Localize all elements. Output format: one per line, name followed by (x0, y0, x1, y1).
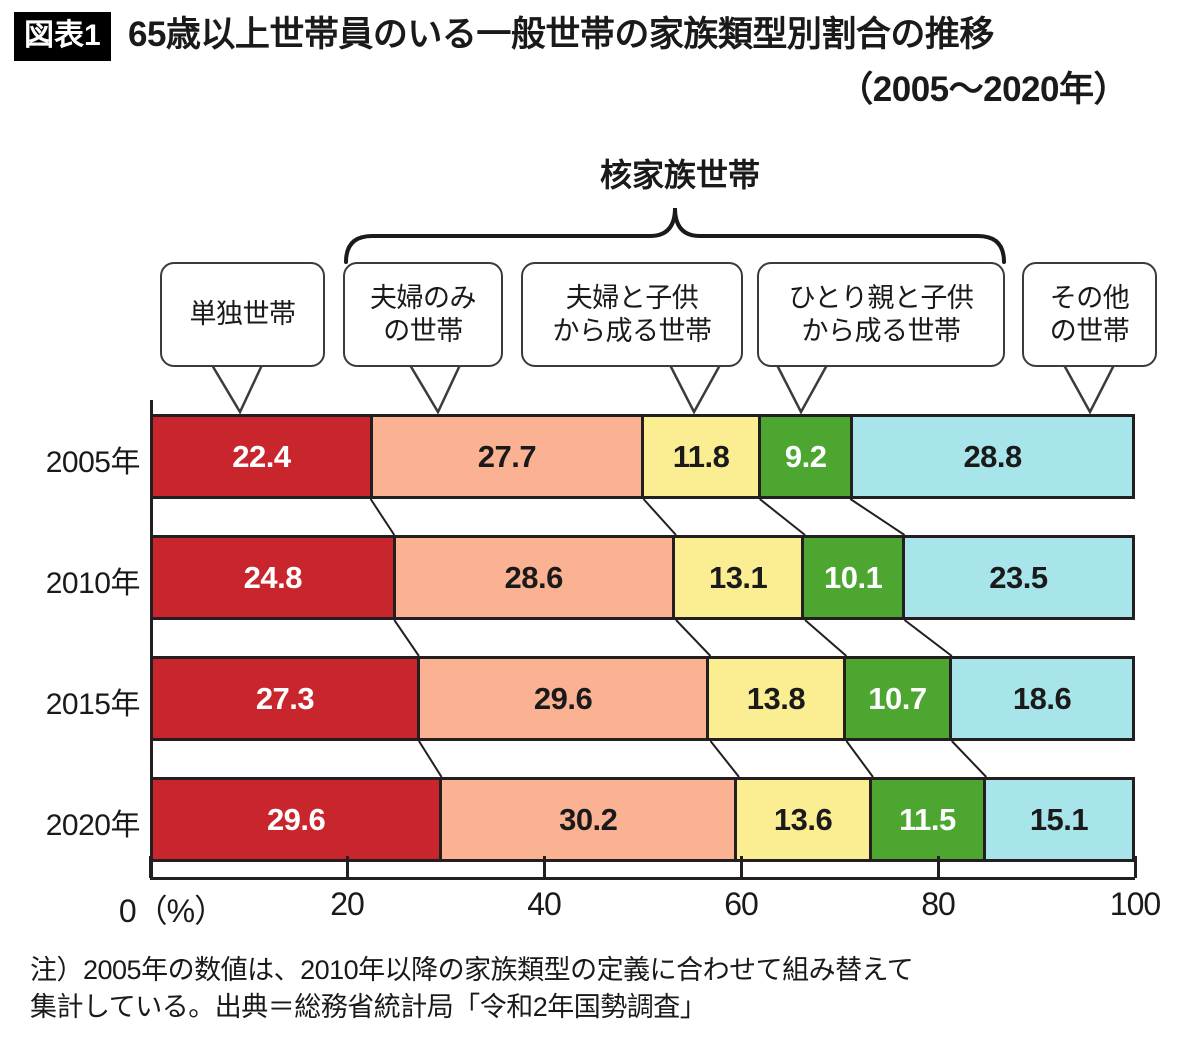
segment-connector-line (643, 499, 676, 535)
segment-connector-line (905, 620, 952, 656)
bar-segment-value: 18.6 (1013, 681, 1071, 717)
page-title: 65歳以上世帯員のいる一般世帯の家族類型別割合の推移 (128, 13, 994, 57)
bar-segment: 10.7 (843, 659, 949, 738)
bar-segment-value: 15.1 (1030, 802, 1088, 838)
callout-tail-single-parent-with-children (775, 362, 855, 414)
bar-segment: 27.7 (370, 417, 641, 496)
x-tick-label: 0（%） (119, 886, 225, 932)
segment-connector-line (952, 741, 986, 777)
bar-segment: 15.1 (983, 780, 1132, 859)
bar-segment-value: 28.8 (963, 439, 1021, 475)
page-title-period: （2005〜2020年） (0, 68, 1128, 112)
bar-segment-value: 23.5 (989, 560, 1047, 596)
bar-segment: 13.6 (734, 780, 869, 859)
callout-tail-couple-with-children (668, 362, 748, 414)
segment-connector-line (805, 620, 846, 656)
callout-tail-single-household (210, 362, 290, 414)
bar-segment: 28.8 (850, 417, 1132, 496)
footnote-line-1: 注）2005年の数値は、2010年以降の家族類型の定義に合わせて組み替えて (30, 952, 1180, 989)
bar-segment-value: 9.2 (785, 439, 827, 475)
bar-row: 22.427.711.89.228.8 (150, 414, 1135, 499)
footnote-line-2: 集計している。出典＝総務省統計局「令和2年国勢調査」 (30, 989, 1180, 1026)
callout-label: 単独世帯 (190, 298, 296, 331)
callout-tail-couple-only (408, 362, 488, 414)
x-tick-mark (543, 856, 546, 878)
bar-segment-value: 10.1 (824, 560, 882, 596)
bar-row: 29.630.213.611.515.1 (150, 777, 1135, 862)
bar-segment: 29.6 (153, 780, 439, 859)
bar-row: 24.828.613.110.123.5 (150, 535, 1135, 620)
bar-segment-value: 13.6 (774, 802, 832, 838)
title-area: 図表1 65歳以上世帯員のいる一般世帯の家族類型別割合の推移 （2005〜202… (0, 0, 1200, 122)
bar-segment-value: 24.8 (244, 560, 302, 596)
bar-segment: 28.6 (393, 538, 672, 617)
callout-box-other-household: その他 の世帯 (1022, 262, 1157, 367)
bar-segment: 22.4 (153, 417, 370, 496)
bar-segment: 11.5 (869, 780, 983, 859)
bar-segment: 13.8 (706, 659, 842, 738)
callout-box-single-household: 単独世帯 (160, 262, 325, 367)
x-tick-label: 40 (527, 886, 561, 923)
callout-label: 夫婦のみ の世帯 (370, 282, 476, 348)
bar-segment: 23.5 (902, 538, 1132, 617)
callout-box-couple-only: 夫婦のみ の世帯 (343, 262, 503, 367)
callout-box-couple-with-children: 夫婦と子供 から成る世帯 (521, 262, 743, 367)
segment-connector-line (760, 499, 805, 535)
segment-connector-line (419, 741, 442, 777)
y-axis-label-2020年: 2020年 (0, 800, 140, 844)
callout-label: 夫婦と子供 から成る世帯 (553, 282, 712, 348)
bar-segment: 11.8 (641, 417, 758, 496)
bar-segment-value: 28.6 (505, 560, 563, 596)
x-tick-mark (346, 856, 349, 878)
bar-segment-value: 27.7 (478, 439, 536, 475)
callout-tail-other-household (1062, 362, 1142, 414)
bar-row: 27.329.613.810.718.6 (150, 656, 1135, 741)
y-axis-line (150, 400, 153, 880)
x-tick-mark (149, 856, 152, 878)
bar-segment-value: 10.7 (868, 681, 926, 717)
bar-segment-value: 13.1 (709, 560, 767, 596)
callout-label: ひとり親と子供 から成る世帯 (789, 282, 974, 348)
bar-segment-value: 30.2 (559, 802, 617, 838)
bar-segment: 13.1 (672, 538, 802, 617)
x-tick-label: 60 (724, 886, 758, 923)
bar-segment-value: 29.6 (267, 802, 325, 838)
bar-segment: 29.6 (417, 659, 706, 738)
x-tick-label: 20 (330, 886, 364, 923)
x-tick-label: 80 (921, 886, 955, 923)
bar-segment-value: 27.3 (256, 681, 314, 717)
x-tick-mark (740, 856, 743, 878)
segment-connector-line (676, 620, 710, 656)
footnote: 注）2005年の数値は、2010年以降の家族類型の定義に合わせて組み替えて 集計… (30, 952, 1180, 1027)
bar-segment-value: 22.4 (232, 439, 290, 475)
segment-connector-line (850, 499, 904, 535)
bar-segment: 9.2 (758, 417, 850, 496)
bar-segment: 27.3 (153, 659, 417, 738)
bar-segment-value: 13.8 (747, 681, 805, 717)
x-tick-mark (937, 856, 940, 878)
y-axis-label-2010年: 2010年 (0, 558, 140, 602)
callout-box-single-parent-with-children: ひとり親と子供 から成る世帯 (757, 262, 1005, 367)
y-axis-label-2005年: 2005年 (0, 437, 140, 481)
segment-connector-line (846, 741, 873, 777)
y-axis-label-2015年: 2015年 (0, 679, 140, 723)
segment-connector-line (710, 741, 739, 777)
x-tick-label: 100 (1110, 886, 1160, 923)
bracket-label-nuclear-family: 核家族世帯 (560, 150, 800, 196)
bar-segment: 18.6 (949, 659, 1132, 738)
bar-segment-value: 11.5 (899, 802, 956, 838)
bar-segment: 24.8 (153, 538, 393, 617)
figure-number-badge: 図表1 (14, 12, 111, 61)
segment-connector-line (371, 499, 395, 535)
segment-connector-line (394, 620, 419, 656)
bar-segment-value: 29.6 (534, 681, 592, 717)
x-axis-line (150, 877, 1135, 880)
bar-segment: 30.2 (439, 780, 734, 859)
bar-segment-value: 11.8 (673, 439, 730, 475)
x-tick-mark (1134, 856, 1137, 878)
nuclear-family-brace-icon (330, 196, 1020, 266)
bar-segment: 10.1 (801, 538, 902, 617)
callout-label: その他 の世帯 (1050, 282, 1130, 348)
